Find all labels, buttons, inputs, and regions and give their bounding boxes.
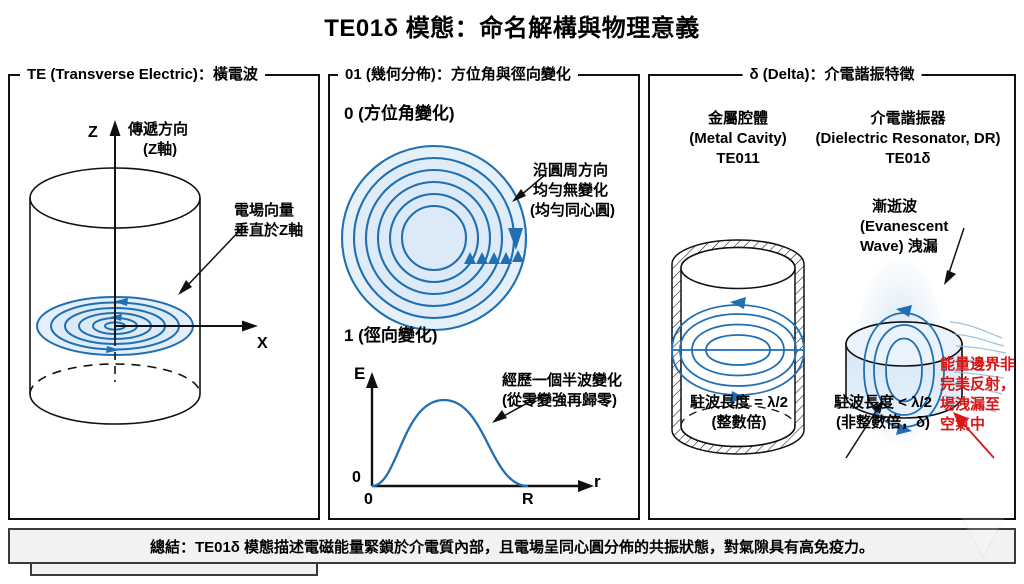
chart-origin-label: 0 xyxy=(352,468,361,488)
panel-te: TE (Transverse Electric)：橫電波 xyxy=(8,74,320,520)
x-axis-label: X xyxy=(257,334,268,354)
dr-title-line2: (Dielectric Resonator, DR) xyxy=(800,130,1016,148)
panel-geometry: 01 (幾何分佈)：方位角與徑向變化 0 (方位角變化) xyxy=(328,74,640,520)
diagram-canvas: TE01δ 模態：命名解構與物理意義 TE (Transverse Electr… xyxy=(0,0,1024,572)
dr-title-line3: TE01δ xyxy=(800,150,1016,168)
z-axis-label: Z xyxy=(88,123,98,143)
e-vector-annotation-line1: 電場向量 xyxy=(234,202,294,220)
summary-bar: 總結：TE01δ 模態描述電磁能量緊鎖於介電質內部，且電場呈同心圓分佈的共振狀態… xyxy=(8,528,1016,564)
dr-title-line1: 介電諧振器 xyxy=(800,110,1016,128)
cavity-title-line3: TE011 xyxy=(658,150,818,168)
radial-heading: 1 (徑向變化) xyxy=(344,326,438,347)
chart-y-axis-label: E xyxy=(354,364,365,385)
panel-geometry-legend: 01 (幾何分佈)：方位角與徑向變化 xyxy=(338,63,578,84)
z-axis-caption-line2: (Z軸) xyxy=(143,141,177,159)
chart-x-axis-label: r xyxy=(594,472,601,493)
warning-line4: 空氣中 xyxy=(940,416,985,434)
z-axis-caption-line1: 傳遞方向 xyxy=(128,121,188,139)
evanescent-label-line3: Wave) 洩漏 xyxy=(860,238,938,256)
azimuthal-annotation-line3: (均勻同心圓) xyxy=(530,202,615,220)
azimuthal-heading: 0 (方位角變化) xyxy=(344,104,455,125)
azimuthal-annotation-line1: 沿圓周方向 xyxy=(533,162,608,180)
panel-delta-legend: δ (Delta)：介電諧振特徵 xyxy=(743,63,922,84)
azimuthal-annotation-line2: 均勻無變化 xyxy=(533,182,608,200)
page-title: TE01δ 模態：命名解構與物理意義 xyxy=(0,8,1024,43)
summary-text: 總結：TE01δ 模態描述電磁能量緊鎖於介電質內部，且電場呈同心圓分佈的共振狀態… xyxy=(150,536,874,557)
warning-line3: 場洩漏至 xyxy=(940,396,1000,414)
warning-line1: 能量邊界非 xyxy=(940,356,1015,374)
chart-xtick-R: R xyxy=(522,490,534,510)
radial-annotation-line2: (從零變強再歸零) xyxy=(502,392,617,410)
e-vector-annotation-line2: 垂直於Z軸 xyxy=(234,222,303,240)
cavity-title-line1: 金屬腔體 xyxy=(658,110,818,128)
cavity-title-line2: (Metal Cavity) xyxy=(658,130,818,148)
evanescent-label-line2: (Evanescent xyxy=(860,218,948,236)
evanescent-label-line1: 漸逝波 xyxy=(872,198,917,216)
radial-annotation-line1: 經歷一個半波變化 xyxy=(502,372,622,390)
warning-line2: 完美反射， xyxy=(940,376,1015,394)
chart-xtick-0: 0 xyxy=(364,490,373,510)
panel-delta: δ (Delta)：介電諧振特徵 金屬腔體 (Metal Cavity) TE0… xyxy=(648,74,1016,520)
cavity-and-resonator-figure xyxy=(650,172,1018,512)
